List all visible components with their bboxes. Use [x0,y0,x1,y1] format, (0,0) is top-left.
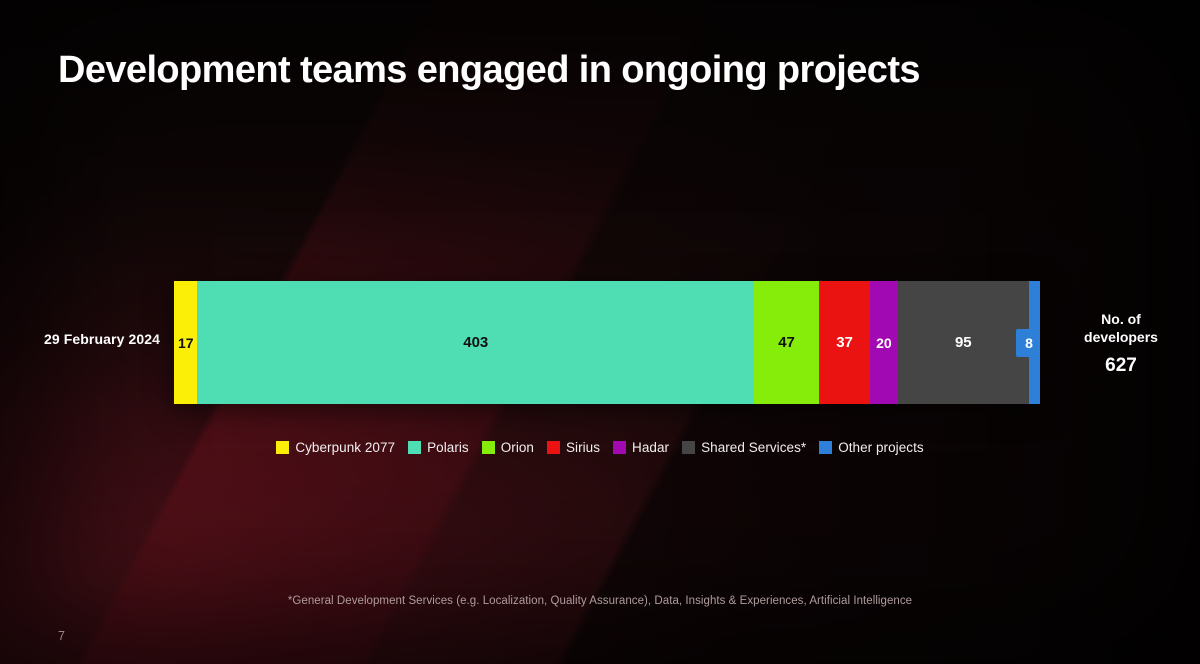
legend-swatch-icon [276,441,289,454]
legend-item-cyberpunk-2077[interactable]: Cyberpunk 2077 [276,440,395,455]
legend-label: Cyberpunk 2077 [295,440,395,455]
bar-segment-shared-services[interactable]: 95 [898,281,1029,404]
legend-label: Orion [501,440,534,455]
footnote: *General Development Services (e.g. Loca… [0,595,1200,607]
legend-item-shared-services[interactable]: Shared Services* [682,440,806,455]
legend-item-other-projects[interactable]: Other projects [819,440,923,455]
page-title: Development teams engaged in ongoing pro… [58,48,1108,92]
bar-segment-polaris[interactable]: 403 [197,281,754,404]
bar-segment-value: 95 [955,334,972,351]
bar-segment-value: 403 [463,334,488,351]
bar-segment-value: 37 [836,334,853,351]
legend-item-hadar[interactable]: Hadar [613,440,669,455]
bar-segment-value: 20 [876,335,892,351]
legend-label: Sirius [566,440,600,455]
legend-item-orion[interactable]: Orion [482,440,534,455]
bar-segment-sirius[interactable]: 37 [819,281,870,404]
legend-swatch-icon [819,441,832,454]
bar-category-label: 29 February 2024 [0,331,160,347]
legend-label: Hadar [632,440,669,455]
legend-swatch-icon [482,441,495,454]
bar-segment-value: 17 [178,335,194,351]
bar-segment-orion[interactable]: 47 [754,281,819,404]
total-developers-block: No. of developers 627 [1058,310,1184,377]
slide-canvas: Development teams engaged in ongoing pro… [0,0,1200,664]
total-caption-line-2: developers [1058,328,1184,346]
stacked-bar-chart: 17403473720958 [174,281,1040,404]
legend-swatch-icon [408,441,421,454]
total-caption-line-1: No. of [1058,310,1184,328]
bar-segment-other-projects[interactable]: 8 [1029,281,1040,404]
legend-label: Polaris [427,440,469,455]
total-developers-value: 627 [1058,355,1184,377]
legend-item-sirius[interactable]: Sirius [547,440,600,455]
legend-swatch-icon [547,441,560,454]
bar-segment-cyberpunk-2077[interactable]: 17 [174,281,197,404]
chart-legend: Cyberpunk 2077PolarisOrionSiriusHadarSha… [0,440,1200,455]
legend-label: Other projects [838,440,923,455]
bar-segment-hadar[interactable]: 20 [870,281,898,404]
bar-segment-value: 8 [1016,329,1040,357]
bar-segment-value: 47 [778,334,795,351]
page-number: 7 [58,629,65,643]
legend-swatch-icon [613,441,626,454]
legend-label: Shared Services* [701,440,806,455]
legend-swatch-icon [682,441,695,454]
legend-item-polaris[interactable]: Polaris [408,440,469,455]
